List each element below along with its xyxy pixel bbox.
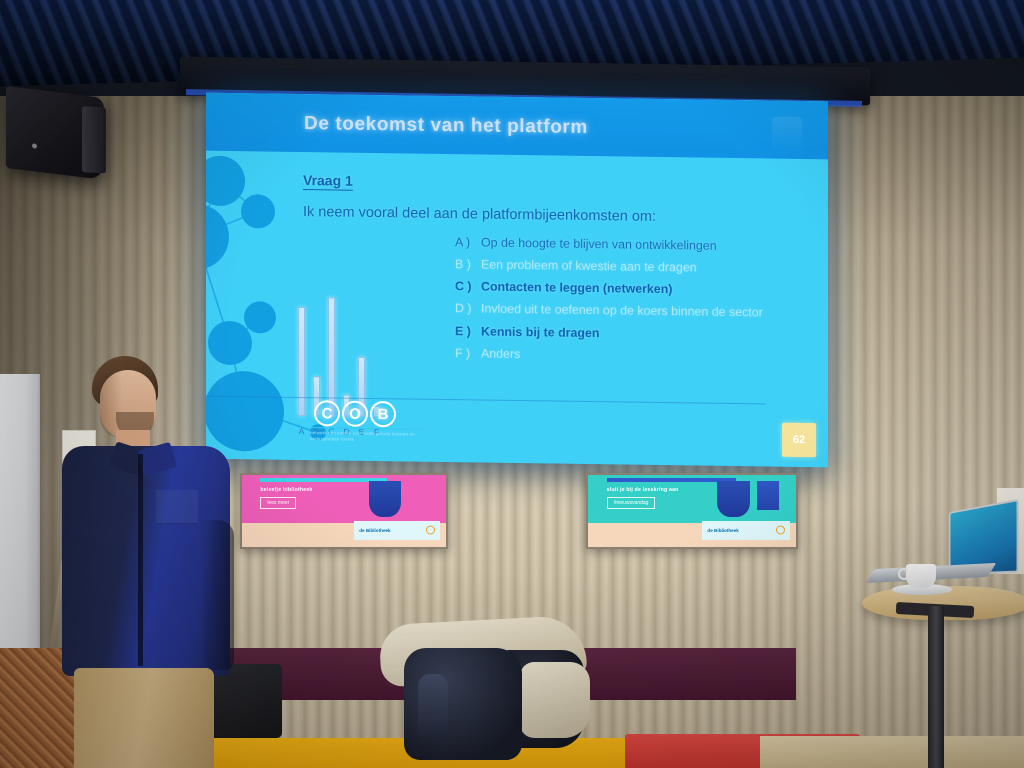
question-label: Vraag 1: [303, 172, 353, 191]
option-letter-d: D ): [455, 303, 481, 317]
poster-left-figure: [369, 481, 402, 517]
slide-body: Vraag 1 Ik neem vooral deel aan de platf…: [206, 151, 828, 468]
question-text: Ik neem vooral deel aan de platformbijee…: [303, 204, 656, 225]
presenter-trousers: [74, 668, 214, 768]
logo-letter-b: B: [370, 401, 396, 427]
answer-option-e: E ) Kennis bij te dragen: [455, 325, 815, 344]
answer-options-list: A ) Op de hoogte te blijven van ontwikke…: [455, 236, 815, 374]
poster-left: beleefje bibliotheek lees meer de Biblio…: [240, 473, 448, 549]
answer-option-d: D ) Invloed uit te oefenen op de koers b…: [455, 303, 815, 322]
option-letter-a: A ): [455, 236, 481, 250]
poster-right-button: #nieuwsvandag: [607, 497, 656, 509]
loudspeaker-face: [82, 106, 106, 173]
answer-option-a: A ) Op de hoogte te blijven van ontwikke…: [455, 236, 815, 255]
option-letter-b: B ): [455, 258, 481, 272]
answer-option-c: C ) Contacten te leggen (netwerken): [455, 280, 815, 299]
poster-left-brand: de Bibliotheek: [354, 521, 440, 540]
answer-option-b: B ) Een probleem of kwestie aan te drage…: [455, 258, 815, 277]
option-letter-e: E ): [455, 325, 481, 339]
option-text-e: Kennis bij te dragen: [481, 325, 599, 340]
option-text-f: Anders: [481, 347, 520, 361]
coffee-cup-handle: [898, 568, 910, 580]
option-text-d: Invloed uit te oefenen op de koers binne…: [481, 303, 763, 321]
poster-right: sluit je bij de leeskring aan #nieuwsvan…: [586, 473, 798, 549]
option-text-b: Een probleem of kwestie aan te dragen: [481, 259, 697, 276]
poster-right-brand-text: de Bibliotheek: [702, 528, 738, 533]
poster-right-brand: de Bibliotheek: [702, 521, 789, 540]
chart-bar-a: [298, 307, 305, 416]
slide-title: De toekomst van het platform: [304, 113, 588, 139]
logo-letter-c: C: [314, 400, 340, 426]
poster-left-headline: beleefje bibliotheek: [260, 487, 312, 493]
cob-logo: C O B netwerk van kennis over ondergrond…: [306, 394, 426, 452]
option-text-a: Op de hoogte te blijven van ontwikkeling…: [481, 236, 717, 253]
cob-logo-letters: C O B: [314, 400, 396, 427]
option-letter-c: C ): [455, 280, 481, 294]
presentation-slide: De toekomst van het platform: [206, 93, 828, 468]
option-letter-f: F ): [455, 347, 481, 361]
poster-right-figure: [717, 481, 750, 517]
logo-subtitle: netwerk van kennis over ondergronds bouw…: [310, 430, 426, 444]
poster-left-brand-mark-icon: [426, 526, 435, 535]
room-scene: De toekomst van het platform: [0, 0, 1024, 768]
logo-letter-o: O: [342, 401, 368, 427]
loudspeaker-led: [32, 143, 37, 149]
cream-coat-sleeve: [520, 662, 590, 738]
backpack: [404, 648, 522, 760]
slide-header-bar: De toekomst van het platform: [206, 93, 828, 160]
presenter-shirt-pocket: [156, 490, 198, 524]
header-glare: [772, 117, 802, 151]
poster-right-top: sluit je bij de leeskring aan #nieuwsvan…: [588, 475, 796, 523]
poster-right-figure-2: [757, 481, 780, 510]
table-stem: [928, 606, 944, 768]
poster-left-header-band: [260, 478, 386, 481]
chart-label-a: A: [298, 426, 305, 436]
coffee-cup: [906, 564, 936, 588]
loudspeaker: [6, 86, 104, 180]
presenter-arm-shadow: [200, 520, 234, 670]
answer-option-f: F ) Anders: [455, 347, 815, 366]
slide-page-badge: 62: [782, 423, 816, 457]
presenter: [60, 350, 230, 768]
poster-right-headline: sluit je bij de leeskring aan: [607, 487, 679, 493]
poster-left-brand-text: de Bibliotheek: [354, 528, 390, 533]
floor: [760, 736, 1024, 768]
poster-left-top: beleefje bibliotheek lees meer: [242, 475, 446, 523]
poster-left-button: lees meer: [260, 497, 296, 509]
poster-right-brand-mark-icon: [776, 526, 785, 535]
presenter-shirt-placket: [138, 454, 143, 666]
projection-screen: De toekomst van het platform: [206, 93, 828, 468]
option-text-c: Contacten te leggen (netwerken): [481, 281, 672, 297]
